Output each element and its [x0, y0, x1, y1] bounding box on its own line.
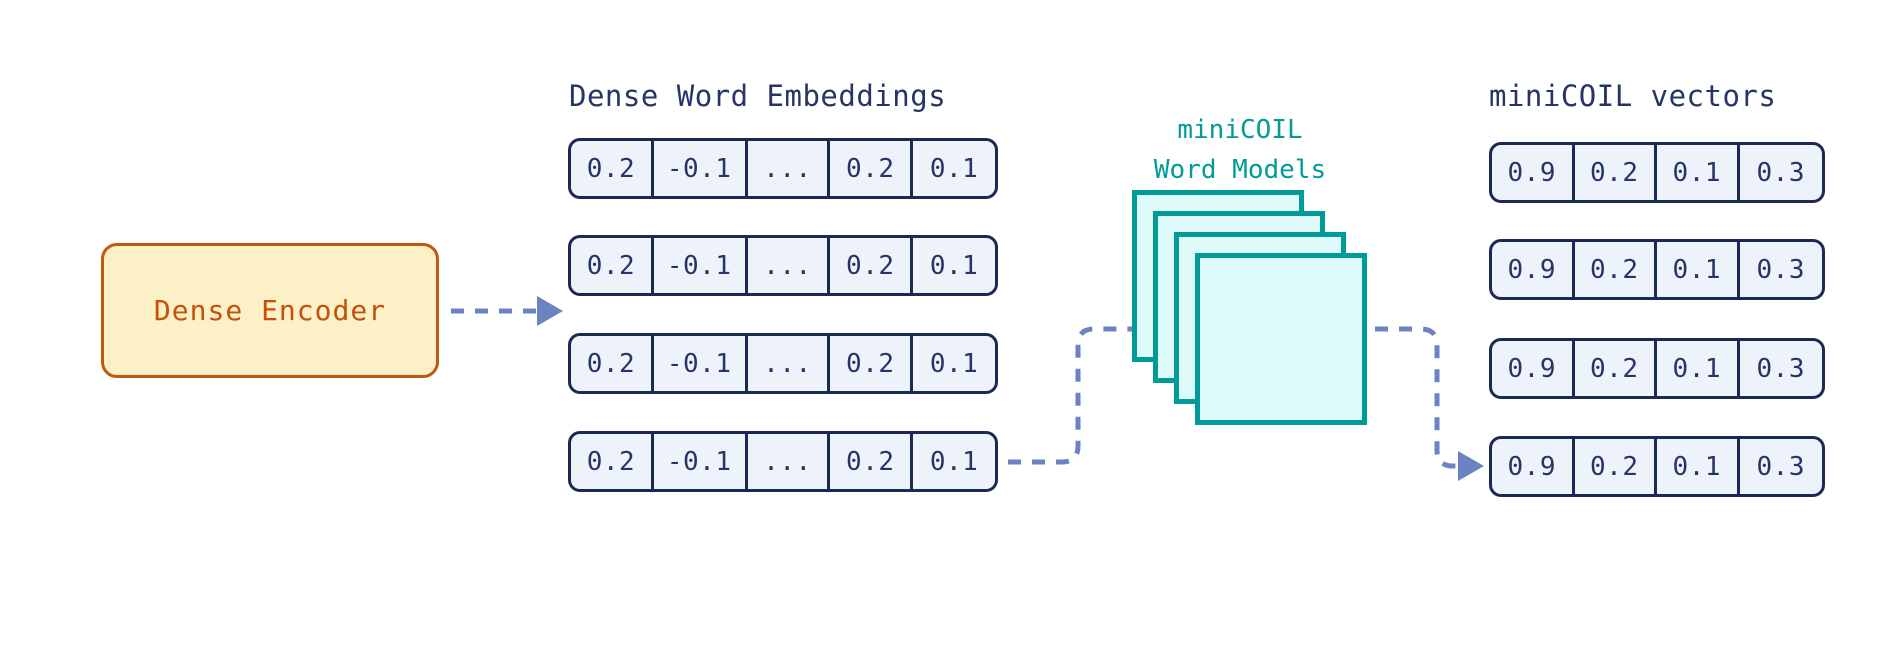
dense-embedding-row[interactable]: 0.2 -0.1 ... 0.2 0.1: [568, 333, 998, 394]
dense-embedding-row[interactable]: 0.2 -0.1 ... 0.2 0.1: [568, 235, 998, 296]
dense-embedding-row[interactable]: 0.2 -0.1 ... 0.2 0.1: [568, 138, 998, 199]
dense-cell: 0.2: [830, 336, 913, 391]
minicoil-vectors-title: miniCOIL vectors: [1489, 79, 1776, 113]
minicoil-vector-row[interactable]: 0.9 0.2 0.1 0.3: [1489, 338, 1825, 399]
minicoil-vector-row[interactable]: 0.9 0.2 0.1 0.3: [1489, 436, 1825, 497]
dense-cell: -0.1: [654, 238, 748, 293]
dense-word-embeddings-title: Dense Word Embeddings: [569, 79, 946, 113]
dense-cell: -0.1: [654, 336, 748, 391]
dense-cell: 0.1: [913, 238, 995, 293]
dense-cell-ellipsis: ...: [748, 238, 831, 293]
dense-cell: 0.2: [571, 434, 654, 489]
dense-cell: 0.2: [571, 238, 654, 293]
dense-encoder-label: Dense Encoder: [154, 294, 386, 327]
minicoil-vector-row[interactable]: 0.9 0.2 0.1 0.3: [1489, 239, 1825, 300]
dense-cell: 0.1: [913, 434, 995, 489]
minicoil-cell: 0.9: [1492, 439, 1575, 494]
dense-cell: 0.1: [913, 141, 995, 196]
dense-cell: -0.1: [654, 434, 748, 489]
minicoil-cell: 0.1: [1657, 341, 1740, 396]
minicoil-cell: 0.9: [1492, 145, 1575, 200]
dense-cell-ellipsis: ...: [748, 336, 831, 391]
minicoil-cell: 0.1: [1657, 242, 1740, 297]
dense-cell: -0.1: [654, 141, 748, 196]
minicoil-cell: 0.9: [1492, 242, 1575, 297]
minicoil-cell: 0.2: [1575, 242, 1658, 297]
diagram-canvas: Dense Encoder Dense Word Embeddings mini…: [0, 0, 1899, 658]
minicoil-cell: 0.1: [1657, 145, 1740, 200]
connector-embeddings-to-models: [1008, 329, 1148, 462]
dense-cell-ellipsis: ...: [748, 141, 831, 196]
minicoil-cell: 0.2: [1575, 439, 1658, 494]
minicoil-cell: 0.2: [1575, 341, 1658, 396]
models-title-line-2: Word Models: [1120, 150, 1360, 190]
models-title-line-1: miniCOIL: [1120, 110, 1360, 150]
minicoil-cell: 0.3: [1740, 341, 1822, 396]
dense-cell: 0.2: [830, 434, 913, 489]
minicoil-word-models-stack[interactable]: [1132, 190, 1377, 435]
model-card[interactable]: [1195, 253, 1367, 425]
minicoil-cell: 0.3: [1740, 242, 1822, 297]
dense-cell: 0.2: [830, 141, 913, 196]
dense-cell: 0.2: [830, 238, 913, 293]
dense-cell: 0.2: [571, 141, 654, 196]
minicoil-cell: 0.9: [1492, 341, 1575, 396]
dense-cell: 0.1: [913, 336, 995, 391]
minicoil-cell: 0.2: [1575, 145, 1658, 200]
dense-embedding-row[interactable]: 0.2 -0.1 ... 0.2 0.1: [568, 431, 998, 492]
dense-cell: 0.2: [571, 336, 654, 391]
minicoil-word-models-title: miniCOIL Word Models: [1120, 110, 1360, 190]
minicoil-cell: 0.3: [1740, 145, 1822, 200]
minicoil-cell: 0.3: [1740, 439, 1822, 494]
dense-cell-ellipsis: ...: [748, 434, 831, 489]
connector-models-to-vectors: [1375, 329, 1464, 466]
dense-encoder-box[interactable]: Dense Encoder: [101, 243, 439, 378]
minicoil-cell: 0.1: [1657, 439, 1740, 494]
minicoil-vector-row[interactable]: 0.9 0.2 0.1 0.3: [1489, 142, 1825, 203]
